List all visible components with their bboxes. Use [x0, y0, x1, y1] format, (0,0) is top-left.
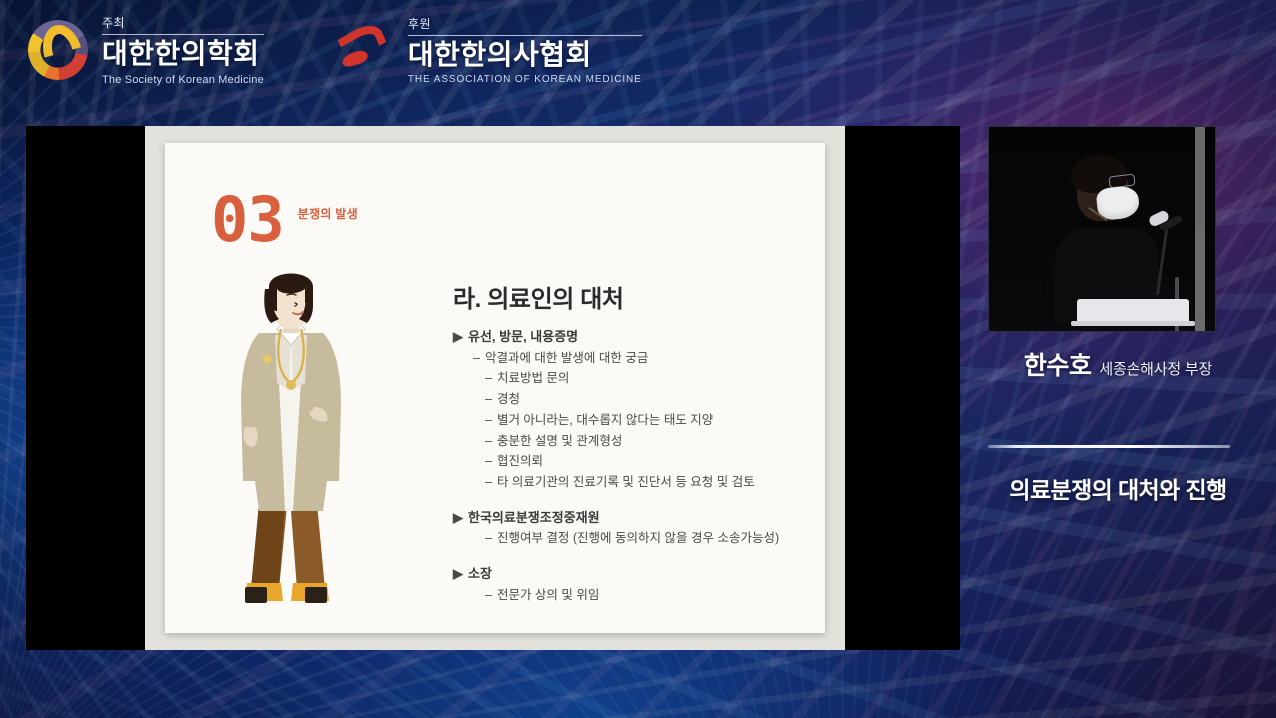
bullet-triangle-icon: ▶	[453, 507, 463, 529]
presentation-slide: 03 분쟁의 발생	[165, 143, 825, 633]
slide-body-content: 라. 의료인의 대처 ▶유선, 방문, 내용증명–악결과에 대한 발생에 대한 …	[453, 279, 803, 605]
slide-bullet-text: 전문가 상의 및 위임	[497, 585, 599, 606]
slide-bullet-text: 협진의뢰	[497, 451, 543, 472]
association-swoosh-logo-icon	[336, 26, 394, 74]
slide-bullet-item: –치료방법 문의	[485, 368, 803, 389]
bullet-triangle-icon: ▶	[453, 326, 463, 348]
slide-bullet-item: –전문가 상의 및 위임	[485, 585, 803, 606]
slide-bullet-item: ▶한국의료분쟁조정중재원	[453, 507, 803, 529]
society-ring-logo-icon	[28, 20, 88, 80]
female-doctor-illustration	[201, 271, 381, 611]
presentation-video-stage[interactable]: 03 분쟁의 발생	[26, 126, 960, 650]
slide-bullet-list: ▶유선, 방문, 내용증명–악결과에 대한 발생에 대한 궁금–치료방법 문의–…	[453, 326, 803, 605]
section-number: 03	[211, 193, 284, 246]
speaker-info-panel: 한수호 세종손해사정 부장 의료분쟁의 대처와 진행	[960, 0, 1276, 718]
slide-bullet-text: 유선, 방문, 내용증명	[468, 326, 578, 348]
bullet-dash-icon: –	[485, 585, 492, 606]
slide-bullet-text: 타 의료기관의 진료기록 및 진단서 등 요청 및 검토	[497, 472, 755, 493]
sponsor-organization-english: THE ASSOCIATION OF KOREAN MEDICINE	[408, 74, 642, 85]
bullet-triangle-icon: ▶	[453, 563, 463, 585]
panel-divider	[988, 445, 1230, 448]
sponsor-kicker-rule	[408, 35, 642, 36]
slide-bullet-item: –별거 아니라는, 대수롭지 않다는 태도 지양	[485, 410, 803, 431]
bullet-dash-icon: –	[485, 368, 492, 389]
host-kicker-label: 주최	[102, 14, 264, 34]
slide-bullet-text: 경청	[497, 389, 520, 410]
speaker-identity: 한수호 세종손해사정 부장	[988, 346, 1248, 382]
bullet-dash-icon: –	[485, 410, 492, 431]
talk-title: 의료분쟁의 대처와 진행	[970, 471, 1266, 505]
bullet-dash-icon: –	[485, 451, 492, 472]
bullet-dash-icon: –	[485, 528, 492, 549]
slide-bullet-text: 별거 아니라는, 대수롭지 않다는 태도 지양	[497, 410, 713, 431]
slide-bullet-item: –타 의료기관의 진료기록 및 진단서 등 요청 및 검토	[485, 472, 803, 493]
slide-bullet-item: –진행여부 결정 (진행에 동의하지 않을 경우 소송가능성)	[485, 528, 803, 549]
bullet-dash-icon: –	[485, 389, 492, 410]
slide-bullet-text: 한국의료분쟁조정중재원	[468, 507, 600, 529]
speaker-role: 세종손해사정 부장	[1099, 358, 1212, 379]
slide-bullet-item: –악결과에 대한 발생에 대한 궁금	[473, 348, 803, 369]
slide-bullet-item: –충분한 설명 및 관계형성	[485, 431, 803, 452]
slide-bullet-text: 진행여부 결정 (진행에 동의하지 않을 경우 소송가능성)	[497, 528, 779, 549]
host-kicker-rule	[102, 34, 264, 35]
bullet-dash-icon: –	[485, 472, 492, 493]
slide-bullet-text: 악결과에 대한 발생에 대한 궁금	[485, 348, 648, 369]
host-organization-text: 주최 대한한의학회 The Society of Korean Medicine	[102, 14, 264, 86]
sponsor-kicker-label: 후원	[408, 15, 642, 35]
slide-title: 라. 의료인의 대처	[453, 279, 803, 314]
speaker-name: 한수호	[1024, 346, 1092, 382]
host-organization-english: The Society of Korean Medicine	[102, 74, 264, 86]
slide-bullet-text: 충분한 설명 및 관계형성	[497, 431, 622, 452]
sponsor-organization-text: 후원 대한한의사협회 THE ASSOCIATION OF KOREAN MED…	[408, 15, 642, 86]
bullet-dash-icon: –	[485, 431, 492, 452]
sponsor-organization-name: 대한한의사협회	[408, 40, 642, 71]
slide-bullet-item: ▶유선, 방문, 내용증명	[453, 326, 803, 348]
sponsor-organization-logo: 후원 대한한의사협회 THE ASSOCIATION OF KOREAN MED…	[336, 15, 642, 86]
host-organization-logo: 주최 대한한의학회 The Society of Korean Medicine	[28, 14, 264, 86]
host-organization-name: 대한한의학회	[102, 39, 264, 70]
slide-frame: 03 분쟁의 발생	[145, 126, 845, 650]
slide-bullet-text: 소장	[468, 563, 492, 585]
speaker-camera-feed[interactable]	[988, 126, 1216, 332]
slide-bullet-item: ▶소장	[453, 563, 803, 585]
section-label: 분쟁의 발생	[298, 205, 358, 222]
slide-section-header: 03 분쟁의 발생	[211, 193, 358, 246]
slide-bullet-text: 치료방법 문의	[497, 368, 569, 389]
bullet-dash-icon: –	[473, 348, 480, 369]
slide-bullet-item: –협진의뢰	[485, 451, 803, 472]
slide-bullet-item: –경청	[485, 389, 803, 410]
background-post	[1195, 127, 1205, 332]
